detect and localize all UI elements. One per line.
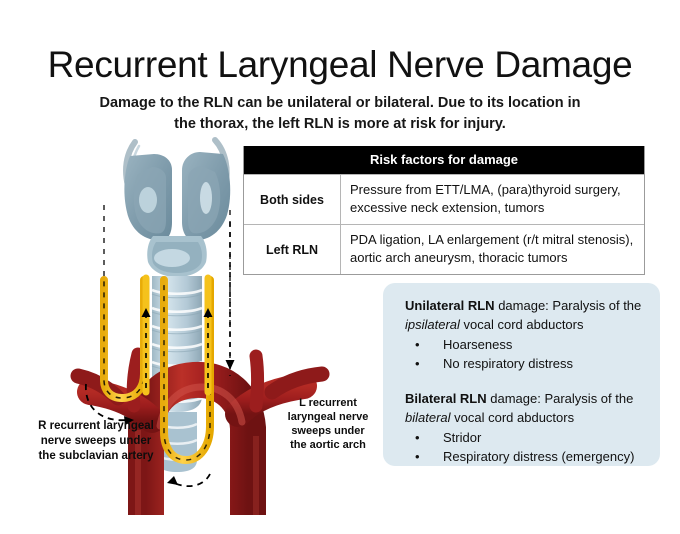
bilateral-rln-term: Bilateral RLN — [405, 391, 487, 406]
bilateral-symptom-1: Stridor — [443, 430, 481, 445]
risk-factors-table-header: Risk factors for damage — [244, 146, 644, 174]
bullet-glyph: • — [415, 447, 420, 466]
list-item: •Stridor — [405, 428, 644, 447]
bilateral-symptom-2: Respiratory distress (emergency) — [443, 449, 634, 464]
bilateral-rln-block: Bilateral RLN damage: Paralysis of the b… — [405, 390, 644, 466]
annotation-left-line3: sweeps under — [291, 425, 364, 437]
unilateral-rln-block: Unilateral RLN damage: Paralysis of the … — [405, 297, 644, 373]
page-subtitle: Damage to the RLN can be unilateral or b… — [90, 93, 590, 135]
annotation-right-line3: the subclavian artery — [38, 450, 153, 462]
bullet-glyph: • — [415, 428, 420, 447]
risk-row-label-left-rln: Left RLN — [244, 225, 341, 274]
risk-row-value-both-sides: Pressure from ETT/LMA, (para)thyroid sur… — [341, 175, 644, 224]
unilateral-rln-symptom-list: •Hoarseness •No respiratory distress — [405, 335, 644, 373]
bullet-glyph: • — [415, 335, 420, 354]
unilateral-symptom-1: Hoarseness — [443, 337, 512, 352]
annotation-left-line4: the aortic arch — [290, 439, 366, 451]
table-row: Both sides Pressure from ETT/LMA, (para)… — [244, 174, 644, 224]
page-title: Recurrent Laryngeal Nerve Damage — [0, 43, 680, 87]
list-item: •Respiratory distress (emergency) — [405, 447, 644, 466]
bilateral-rln-text-before: damage: Paralysis of the — [487, 391, 634, 406]
unilateral-rln-term: Unilateral RLN — [405, 298, 495, 313]
left-rln-sweep-arrow — [167, 474, 210, 486]
list-item: •Hoarseness — [405, 335, 644, 354]
unilateral-rln-heading: Unilateral RLN damage: Paralysis of the … — [405, 297, 644, 334]
risk-factors-table: Risk factors for damage Both sides Press… — [243, 146, 645, 275]
risk-row-label-both-sides: Both sides — [244, 175, 341, 224]
bullet-glyph: • — [415, 354, 420, 373]
annotation-right-line2: nerve sweeps under — [41, 435, 152, 447]
bilateral-rln-heading: Bilateral RLN damage: Paralysis of the b… — [405, 390, 644, 427]
infographic-page: Recurrent Laryngeal Nerve Damage Damage … — [0, 0, 680, 534]
unilateral-symptom-2: No respiratory distress — [443, 356, 573, 371]
annotation-left-line2: laryngeal nerve — [288, 411, 369, 423]
annotation-left-recurrent-laryngeal-nerve: L recurrent laryngeal nerve sweeps under… — [272, 396, 384, 452]
list-item: •No respiratory distress — [405, 354, 644, 373]
annotation-right-recurrent-laryngeal-nerve: R recurrent laryngeal nerve sweeps under… — [8, 419, 184, 464]
bilateral-rln-text-after: vocal cord abductors — [451, 410, 575, 425]
cricoid-cartilage — [147, 236, 207, 277]
annotation-left-line1: L recurrent — [299, 397, 357, 409]
callout-spacer — [405, 377, 644, 390]
bilateral-rln-emphasis: bilateral — [405, 410, 451, 425]
unilateral-rln-text-after: vocal cord abductors — [460, 317, 584, 332]
risk-row-value-left-rln: PDA ligation, LA enlargement (r/t mitral… — [341, 225, 644, 274]
unilateral-rln-text-before: damage: Paralysis of the — [495, 298, 642, 313]
rln-damage-callout: Unilateral RLN damage: Paralysis of the … — [383, 283, 660, 466]
bilateral-rln-symptom-list: •Stridor •Respiratory distress (emergenc… — [405, 428, 644, 466]
annotation-right-line1: R recurrent laryngeal — [38, 420, 154, 432]
table-row: Left RLN PDA ligation, LA enlargement (r… — [244, 224, 644, 274]
thyroid-cartilage — [124, 140, 230, 240]
unilateral-rln-emphasis: ipsilateral — [405, 317, 460, 332]
